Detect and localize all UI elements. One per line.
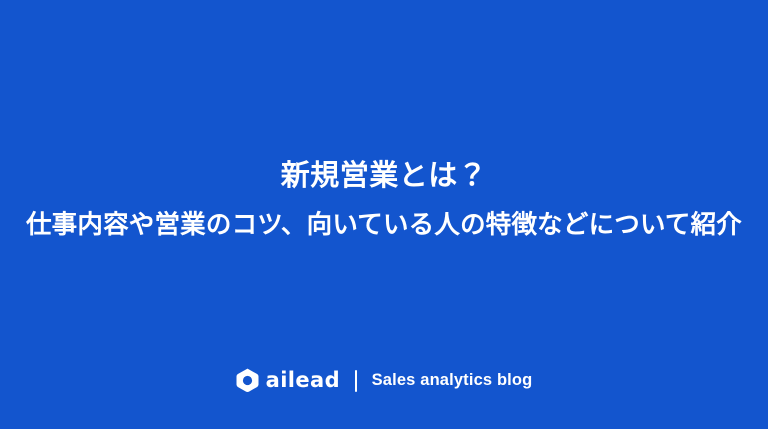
blog-header-card: 新規営業とは？ 仕事内容や営業のコツ、向いている人の特徴などについて紹介 ail…: [0, 0, 768, 429]
headline-block: 新規営業とは？ 仕事内容や営業のコツ、向いている人の特徴などについて紹介: [0, 158, 768, 242]
ailead-hexagon-logo-icon: [236, 368, 259, 393]
brand-lockup: ailead Sales analytics blog: [0, 368, 768, 393]
brand-divider: [355, 370, 357, 392]
page-title: 新規営業とは？: [281, 158, 488, 195]
ailead-logo[interactable]: ailead: [236, 368, 340, 393]
page-subtitle: 仕事内容や営業のコツ、向いている人の特徴などについて紹介: [26, 209, 742, 242]
brand-tagline: Sales analytics blog: [372, 372, 533, 389]
ailead-wordmark: ailead: [266, 370, 340, 391]
